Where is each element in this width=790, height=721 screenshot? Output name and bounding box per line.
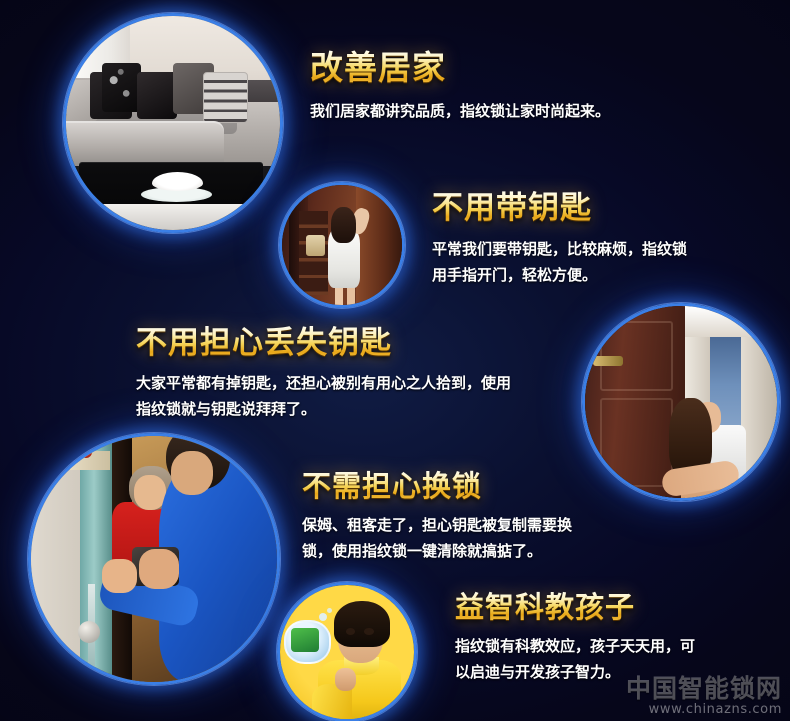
feature-body-line: 平常我们要带钥匙，比较麻烦，指纹锁 bbox=[432, 237, 687, 263]
watermark-url: www.chinazns.com bbox=[626, 703, 782, 717]
feature-body-home: 我们居家都讲究品质，指纹锁让家时尚起来。 bbox=[310, 99, 610, 125]
feature-headline-edu: 益智科教孩子 bbox=[455, 591, 695, 623]
feature-body-edu: 指纹锁有科教效应，孩子天天用，可 以启迪与开发孩子智力。 bbox=[455, 634, 695, 686]
feature-body-line: 以启迪与开发孩子智力。 bbox=[455, 660, 695, 686]
feature-body-line: 大家平常都有掉钥匙，还担心被别有用心之人拾到，使用 bbox=[136, 371, 511, 397]
feature-body-line: 指纹锁就与钥匙说拜拜了。 bbox=[136, 397, 511, 423]
feature-block-edu: 益智科教孩子 指纹锁有科教效应，孩子天天用，可 以启迪与开发孩子智力。 bbox=[455, 591, 695, 686]
feature-body-line: 锁，使用指纹锁一键清除就搞掂了。 bbox=[302, 539, 572, 565]
woman-sitting-door-photo bbox=[582, 303, 780, 501]
feature-body-nolost: 大家平常都有掉钥匙，还担心被别有用心之人拾到，使用 指纹锁就与钥匙说拜拜了。 bbox=[136, 371, 511, 423]
feature-headline-nokey: 不用带钥匙 bbox=[432, 191, 687, 226]
feature-block-nolost: 不用担心丢失钥匙 大家平常都有掉钥匙，还担心被别有用心之人拾到，使用 指纹锁就与… bbox=[136, 326, 511, 422]
promo-poster: 改善居家 我们居家都讲究品质，指纹锁让家时尚起来。 不用带钥匙 平常我们要带钥匙… bbox=[0, 0, 790, 721]
boy-photo bbox=[277, 582, 417, 721]
feature-body-line: 用手指开门，轻松方便。 bbox=[432, 263, 687, 289]
feature-headline-home: 改善居家 bbox=[310, 50, 610, 87]
feature-body-nochange: 保姆、租客走了，担心钥匙被复制需要换 锁，使用指纹锁一键清除就搞掂了。 bbox=[302, 513, 572, 565]
feature-body-line: 保姆、租客走了，担心钥匙被复制需要换 bbox=[302, 513, 572, 539]
locksmith-photo bbox=[28, 433, 280, 685]
feature-headline-nochange: 不需担心换锁 bbox=[302, 470, 572, 502]
woman-at-door-photo bbox=[279, 182, 405, 308]
feature-block-home: 改善居家 我们居家都讲究品质，指纹锁让家时尚起来。 bbox=[310, 50, 610, 125]
feature-body-line: 指纹锁有科教效应，孩子天天用，可 bbox=[455, 634, 695, 660]
feature-block-nokey: 不用带钥匙 平常我们要带钥匙，比较麻烦，指纹锁 用手指开门，轻松方便。 bbox=[432, 191, 687, 288]
living-room-photo bbox=[63, 13, 283, 233]
feature-block-nochange: 不需担心换锁 保姆、租客走了，担心钥匙被复制需要换 锁，使用指纹锁一键清除就搞掂… bbox=[302, 470, 572, 565]
feature-body-nokey: 平常我们要带钥匙，比较麻烦，指纹锁 用手指开门，轻松方便。 bbox=[432, 237, 687, 289]
feature-headline-nolost: 不用担心丢失钥匙 bbox=[136, 326, 511, 361]
feature-body-line: 我们居家都讲究品质，指纹锁让家时尚起来。 bbox=[310, 99, 610, 125]
